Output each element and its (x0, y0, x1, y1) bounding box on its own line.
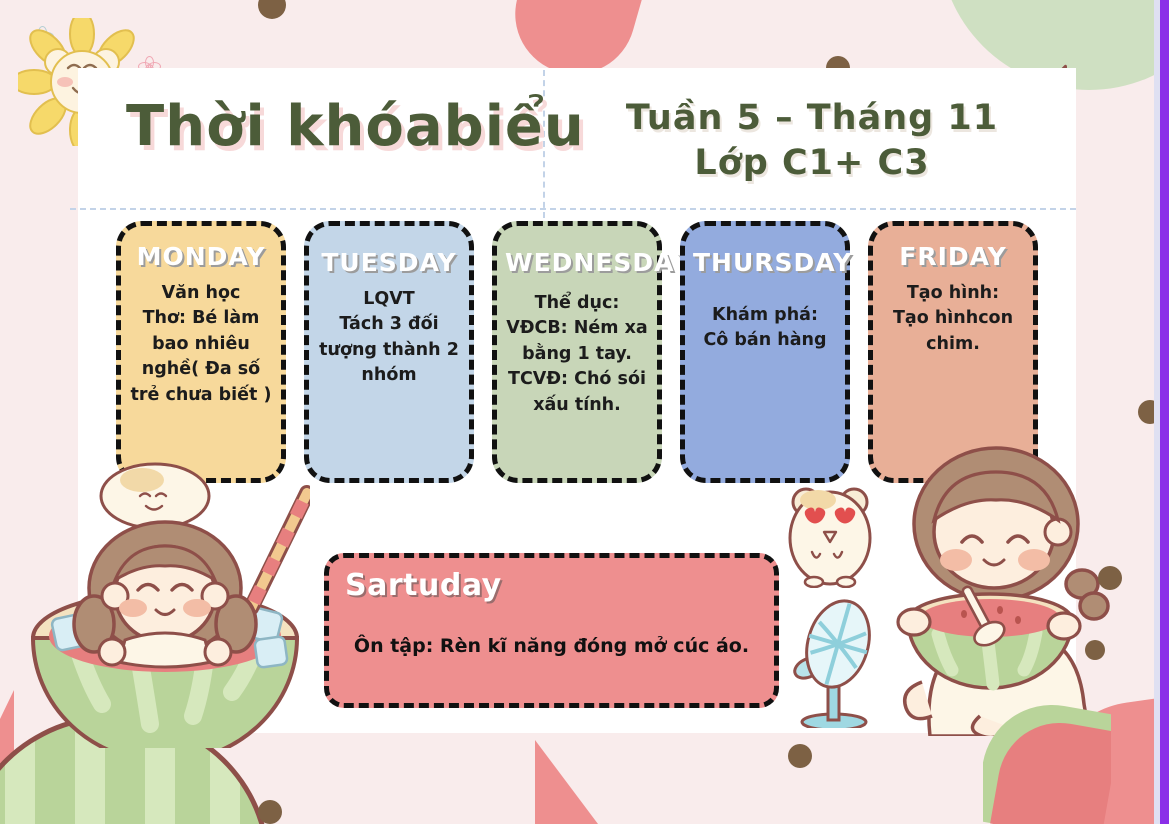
watermelon-seed-icon (788, 744, 812, 768)
day-body-saturday: Ôn tập: Rèn kĩ năng đóng mở cúc áo. (345, 635, 758, 657)
poster-subtitle: Tuần 5 – Tháng 11 Lớp C1+ C3 (548, 96, 1076, 186)
guide-line-horizontal (70, 208, 1076, 210)
subtitle-line-2: Lớp C1+ C3 (548, 141, 1076, 186)
day-body-friday: Tạo hình: Tạo hìnhcon chim. (881, 281, 1025, 357)
watermelon-seed-icon (258, 800, 282, 824)
day-card-tuesday[interactable]: TUESDAY LQVT Tách 3 đối tượng thành 2 nh… (304, 221, 474, 483)
day-title-monday: MONDAY (129, 242, 273, 271)
day-title-saturday: Sartuday (345, 568, 758, 603)
day-title-tuesday: TUESDAY (317, 248, 461, 277)
schedule-poster: Thời khóabiểu Tuần 5 – Tháng 11 Lớp C1+ … (0, 0, 1169, 824)
slide-edge-strip[interactable] (1160, 0, 1169, 824)
day-body-thursday: Khám phá: Cô bán hàng (693, 303, 837, 354)
poster-header: Thời khóabiểu Tuần 5 – Tháng 11 Lớp C1+ … (78, 68, 1076, 208)
girl-in-watermelon-bath-icon (20, 448, 310, 748)
day-body-wednesday: Thể dục: VĐCB: Ném xa bằng 1 tay. TCVĐ: … (505, 291, 649, 418)
schedule-card: Thời khóabiểu Tuần 5 – Tháng 11 Lớp C1+ … (78, 68, 1076, 733)
day-body-monday: Văn học Thơ: Bé làm bao nhiêu nghề( Đa s… (129, 281, 273, 408)
hamster-heart-eyes-icon (784, 480, 876, 588)
day-card-saturday[interactable]: Sartuday Ôn tập: Rèn kĩ năng đóng mở cúc… (324, 553, 779, 708)
watermelon-wedge-icon (535, 740, 613, 824)
day-card-monday[interactable]: MONDAY Văn học Thơ: Bé làm bao nhiêu ngh… (116, 221, 286, 483)
day-title-wednesday: WEDNESDAY (505, 248, 649, 277)
day-title-friday: FRIDAY (881, 242, 1025, 271)
day-card-thursday[interactable]: THURSDAY Khám phá: Cô bán hàng (680, 221, 850, 483)
day-title-thursday: THURSDAY (693, 248, 837, 277)
day-body-tuesday: LQVT Tách 3 đối tượng thành 2 nhóm (317, 287, 461, 389)
page-title: Thời khóabiểu (126, 94, 585, 159)
watermelon-wedge-icon (0, 690, 14, 810)
girl-eating-watermelon-icon (868, 436, 1130, 736)
subtitle-line-1: Tuần 5 – Tháng 11 (548, 96, 1076, 141)
watermelon-seed-icon (258, 0, 286, 19)
day-card-wednesday[interactable]: WEDNESDAY Thể dục: VĐCB: Ném xa bằng 1 t… (492, 221, 662, 483)
